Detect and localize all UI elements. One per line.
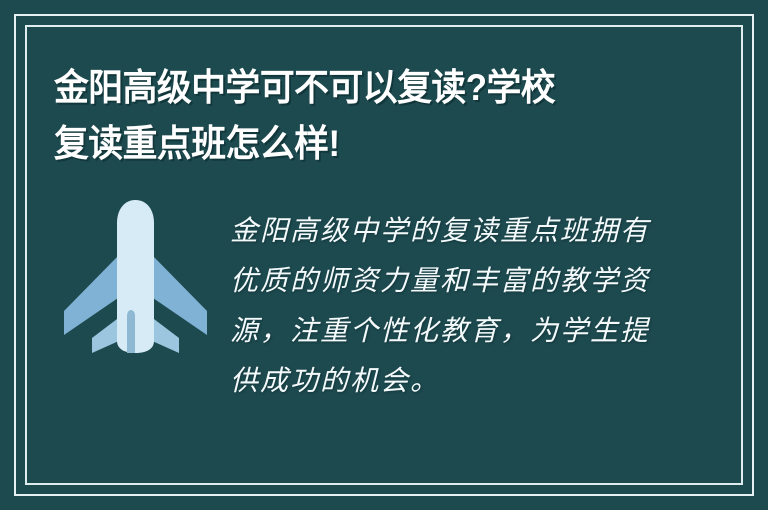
title-line-2: 复读重点班怎么样! [54,116,618,172]
body-line-4: 供成功的机会。 [230,356,660,406]
body-paragraph: 金阳高级中学的复读重点班拥有 优质的师资力量和丰富的教学资 源，注重个性化教育，… [230,206,660,406]
page-title: 金阳高级中学可不可以复读?学校 复读重点班怎么样! [54,60,654,172]
body-line-1: 金阳高级中学的复读重点班拥有 [230,206,660,256]
airplane-icon [58,198,213,353]
body-line-3: 源，注重个性化教育，为学生提 [230,306,660,356]
body-line-2: 优质的师资力量和丰富的教学资 [230,256,660,306]
poster-card: 金阳高级中学可不可以复读?学校 复读重点班怎么样! 金阳高级中学的复读重点班拥有… [0,0,768,510]
title-line-1: 金阳高级中学可不可以复读?学校 [54,60,618,116]
